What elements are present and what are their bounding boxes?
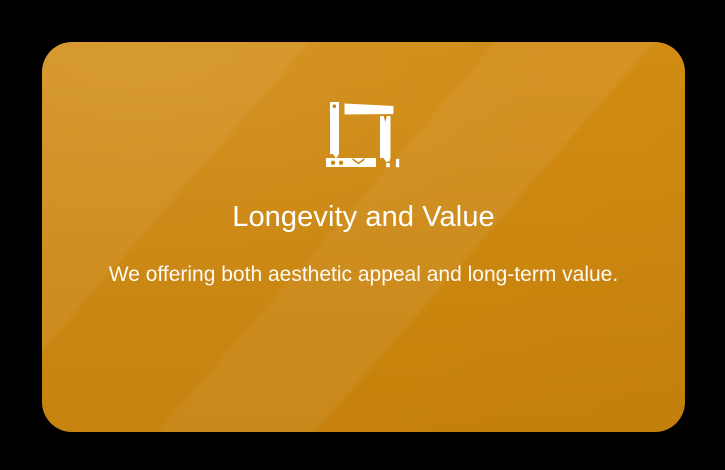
feature-card-content: Longevity and Value We offering both aes… — [42, 42, 685, 432]
card-description: We offering both aesthetic appeal and lo… — [109, 234, 618, 290]
feature-card[interactable]: Longevity and Value We offering both aes… — [42, 42, 685, 432]
picture-frame-icon — [324, 100, 404, 170]
page-title: Longevity and Value — [232, 170, 495, 234]
screen-root: Longevity and Value We offering both aes… — [0, 0, 725, 470]
